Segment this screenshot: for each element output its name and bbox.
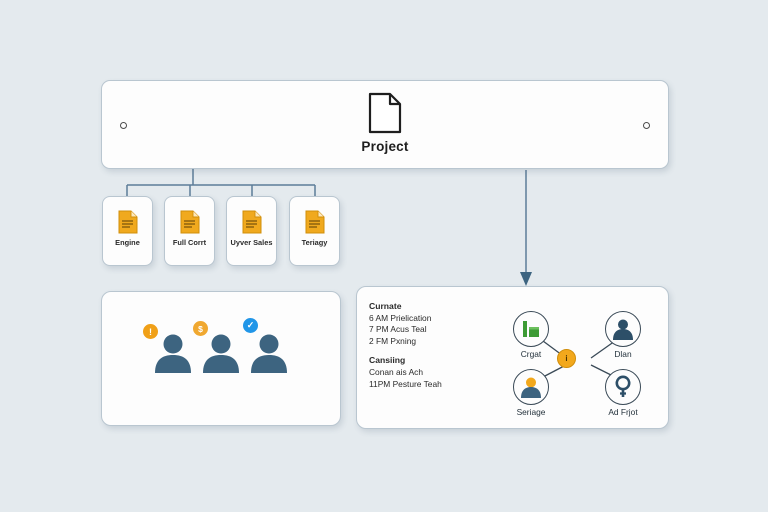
team-members-panel[interactable]: ! $ ✓: [101, 291, 341, 426]
graph-node-label: Dlan: [588, 349, 658, 359]
key-icon: [612, 375, 634, 399]
project-header-content: Project: [102, 92, 668, 154]
person-silhouette-icon: [151, 330, 195, 374]
doc-card[interactable]: Full Corrt: [164, 196, 215, 266]
team-member[interactable]: ✓: [247, 330, 291, 374]
document-yellow-icon: [242, 210, 262, 234]
schedule-line: 2 FM Pxning: [369, 336, 479, 348]
schedule-line: Conan ais Ach: [369, 367, 479, 379]
graph-node-seriage[interactable]: [513, 369, 549, 405]
schedule-and-graph-panel[interactable]: Curnate 6 AM Prielication 7 PM Acus Teal…: [356, 286, 669, 429]
alert-badge: !: [143, 324, 158, 339]
diagram-canvas: Project Engine Full Corrt: [0, 0, 768, 512]
graph-node-ad-frjot[interactable]: [605, 369, 641, 405]
verified-badge: ✓: [243, 318, 258, 333]
schedule-line: 7 PM Acus Teal: [369, 324, 479, 336]
main-arrow-head: [520, 272, 532, 286]
hub-node[interactable]: i: [557, 349, 576, 368]
doc-card-label: Engine: [104, 239, 152, 247]
team-member[interactable]: $: [199, 330, 243, 374]
doc-card-label: Teriagy: [291, 239, 339, 247]
doc-card[interactable]: Engine: [102, 196, 153, 266]
green-chart-icon: [520, 318, 542, 340]
team-members-row: ! $ ✓: [102, 330, 340, 374]
document-yellow-icon: [305, 210, 325, 234]
currency-badge: $: [193, 321, 208, 336]
doc-card[interactable]: Uyver Sales: [226, 196, 277, 266]
person-silhouette-icon: [247, 330, 291, 374]
document-outline-icon: [368, 92, 402, 134]
project-title: Project: [361, 139, 408, 154]
schedule-group: Curnate 6 AM Prielication 7 PM Acus Teal…: [369, 301, 479, 347]
graph-node-label: Seriage: [496, 407, 566, 417]
team-member[interactable]: !: [151, 330, 195, 374]
person-silhouette-icon: [199, 330, 243, 374]
schedule-text-block: Curnate 6 AM Prielication 7 PM Acus Teal…: [369, 301, 479, 398]
schedule-group: Cansiing Conan ais Ach 11PM Pesture Teah: [369, 355, 479, 390]
graph-node-dlan[interactable]: [605, 311, 641, 347]
graph-node-label: Ad Frjot: [588, 407, 658, 417]
person-dark-icon: [611, 317, 635, 341]
graph-node-crgat[interactable]: [513, 311, 549, 347]
graph-node-label: Crgat: [496, 349, 566, 359]
schedule-heading: Curnate: [369, 301, 479, 313]
doc-card[interactable]: Teriagy: [289, 196, 340, 266]
schedule-line: 6 AM Prielication: [369, 313, 479, 325]
project-header-bar[interactable]: Project: [101, 80, 669, 169]
doc-card-label: Uyver Sales: [228, 239, 276, 247]
document-yellow-icon: [118, 210, 138, 234]
schedule-line: 11PM Pesture Teah: [369, 379, 479, 391]
hub-node-graph: Crgat Dlan Seriage: [493, 295, 665, 423]
doc-card-label: Full Corrt: [166, 239, 214, 247]
person-orange-head-icon: [519, 375, 543, 399]
schedule-heading: Cansiing: [369, 355, 479, 367]
document-yellow-icon: [180, 210, 200, 234]
